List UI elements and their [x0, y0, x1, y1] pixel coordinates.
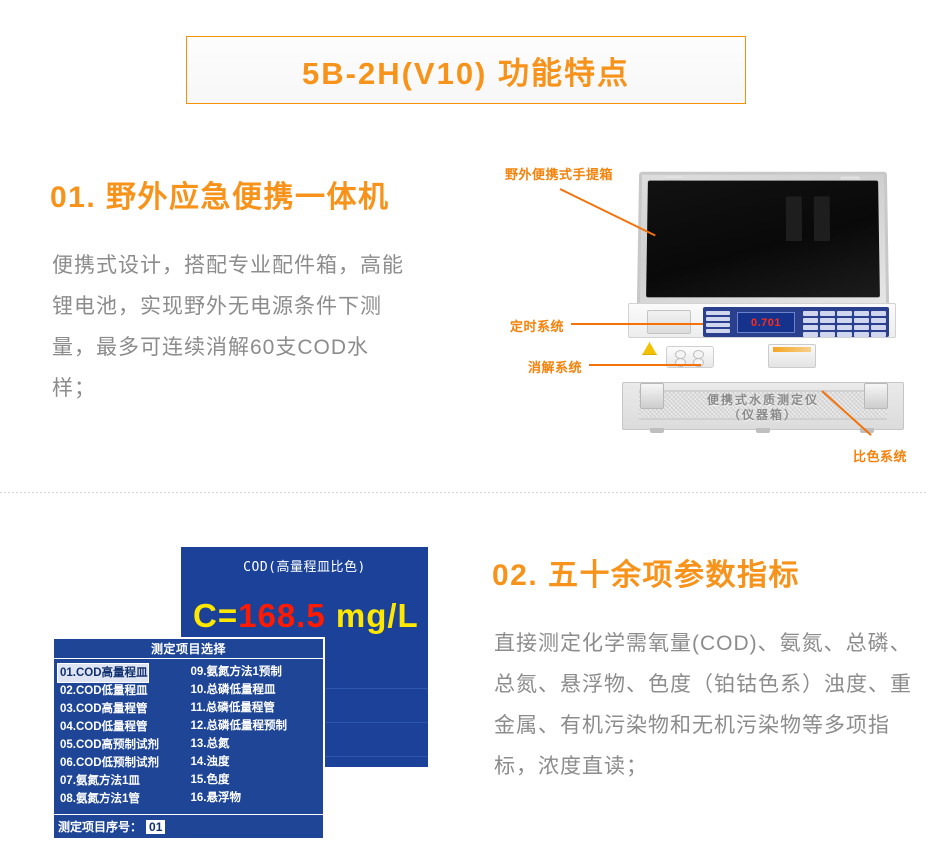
case-brand-label: 便携式水质测定仪 （仪器箱）: [623, 393, 903, 423]
case-lid-foam: [646, 181, 880, 298]
product-photo: 0.701 便携式水质测定仪 （仪器箱: [500, 160, 928, 470]
leader-line-timer-system: [571, 323, 703, 325]
case-front: 便携式水质测定仪 （仪器箱）: [622, 382, 904, 430]
panel-display: 0.701: [737, 312, 795, 333]
callout-timer-system: 定时系统: [510, 316, 564, 335]
list-item[interactable]: 08.氨氮方法1管: [58, 790, 189, 808]
list-item[interactable]: 13.总氮: [189, 735, 320, 753]
leader-line-digestion-system: [589, 364, 701, 366]
instrument-control-panel: 0.701: [628, 303, 896, 338]
case-latch-left: [640, 383, 664, 409]
section-02-body: 直接测定化学需氧量(COD)、氨氮、总磷、总氮、悬浮物、色度（铂钴色系）浊度、重…: [494, 623, 914, 787]
warning-label-icon: [642, 342, 657, 355]
list-item[interactable]: 15.色度: [189, 771, 320, 789]
colorimetric-chamber-lid: [768, 344, 816, 368]
numeric-keypad[interactable]: [803, 311, 886, 337]
foam-strip-a: [786, 197, 802, 241]
foam-strip-b: [814, 197, 830, 241]
case-latch-right: [864, 383, 888, 409]
list-item[interactable]: 06.COD低预制试剂: [58, 754, 189, 772]
lcd-reading: C=168.5 mg/L: [193, 597, 419, 635]
panel-display-value: 0.701: [751, 317, 781, 329]
case-foot: [650, 428, 664, 433]
dialog-footer: 测定项目序号： 01: [54, 814, 323, 838]
list-item[interactable]: 02.COD低量程皿: [58, 682, 189, 700]
dialog-column-left: 01.COD高量程皿 02.COD低量程皿 03.COD高量程管 04.COD低…: [58, 663, 189, 809]
list-item[interactable]: 07.氨氮方法1皿: [58, 772, 189, 790]
section-divider: [0, 492, 928, 493]
callout-portable-case: 野外便携式手提箱: [505, 164, 613, 183]
lcd-reading-value: 168.5: [238, 597, 326, 634]
callout-digestion-system: 消解系统: [528, 357, 582, 376]
lcd-reading-unit: mg/L: [336, 597, 419, 634]
case-brand-line2: （仪器箱）: [623, 408, 903, 423]
dialog-footer-label: 测定项目序号：: [58, 818, 142, 835]
list-item[interactable]: 09.氨氮方法1预制: [189, 663, 320, 681]
measurement-item-dialog[interactable]: 测定项目选择 01.COD高量程皿 02.COD低量程皿 03.COD高量程管 …: [52, 637, 325, 840]
list-item[interactable]: 16.悬浮物: [189, 789, 320, 807]
list-item[interactable]: 04.COD低量程管: [58, 718, 189, 736]
colorimetric-label-strip: [773, 347, 811, 352]
lcd-reading-prefix: C=: [193, 597, 238, 634]
list-item[interactable]: 03.COD高量程管: [58, 700, 189, 718]
list-item[interactable]: 05.COD高预制试剂: [58, 736, 189, 754]
page-title: 5B-2H(V10) 功能特点: [302, 48, 630, 93]
list-item[interactable]: 01.COD高量程皿: [58, 664, 148, 682]
section-01-heading: 01. 野外应急便携一体机: [50, 172, 390, 216]
page-root: 5B-2H(V10) 功能特点 01. 野外应急便携一体机 便携式设计，搭配专业…: [0, 0, 928, 864]
section-01-body: 便携式设计，搭配专业配件箱，高能锂电池，实现野外无电源条件下测量，最多可连续消解…: [52, 245, 412, 409]
callout-colorimetric-system: 比色系统: [853, 446, 907, 465]
dialog-column-right: 09.氨氮方法1预制 10.总磷低量程皿 11.总磷低量程管 12.总磷低量程预…: [189, 663, 320, 809]
side-keys[interactable]: [706, 311, 730, 335]
keypad-panel: 0.701: [703, 307, 889, 337]
list-item[interactable]: 10.总磷低量程皿: [189, 681, 320, 699]
dialog-item-list[interactable]: 01.COD高量程皿 02.COD低量程皿 03.COD高量程管 04.COD低…: [54, 660, 323, 812]
list-item[interactable]: 14.浊度: [189, 753, 320, 771]
page-title-box: 5B-2H(V10) 功能特点: [186, 36, 746, 104]
dialog-footer-value[interactable]: 01: [146, 820, 165, 834]
list-item[interactable]: 11.总磷低量程管: [189, 699, 320, 717]
dialog-title: 测定项目选择: [54, 639, 323, 659]
case-foot: [756, 428, 770, 433]
case-brand-line1: 便携式水质测定仪: [623, 393, 903, 408]
printer-slot: [647, 310, 691, 334]
section-02-heading: 02. 五十余项参数指标: [492, 550, 800, 594]
list-item[interactable]: 12.总磷低量程预制: [189, 717, 320, 735]
lcd-title: COD(高量程皿比色): [181, 556, 428, 575]
case-lid: [637, 172, 889, 307]
